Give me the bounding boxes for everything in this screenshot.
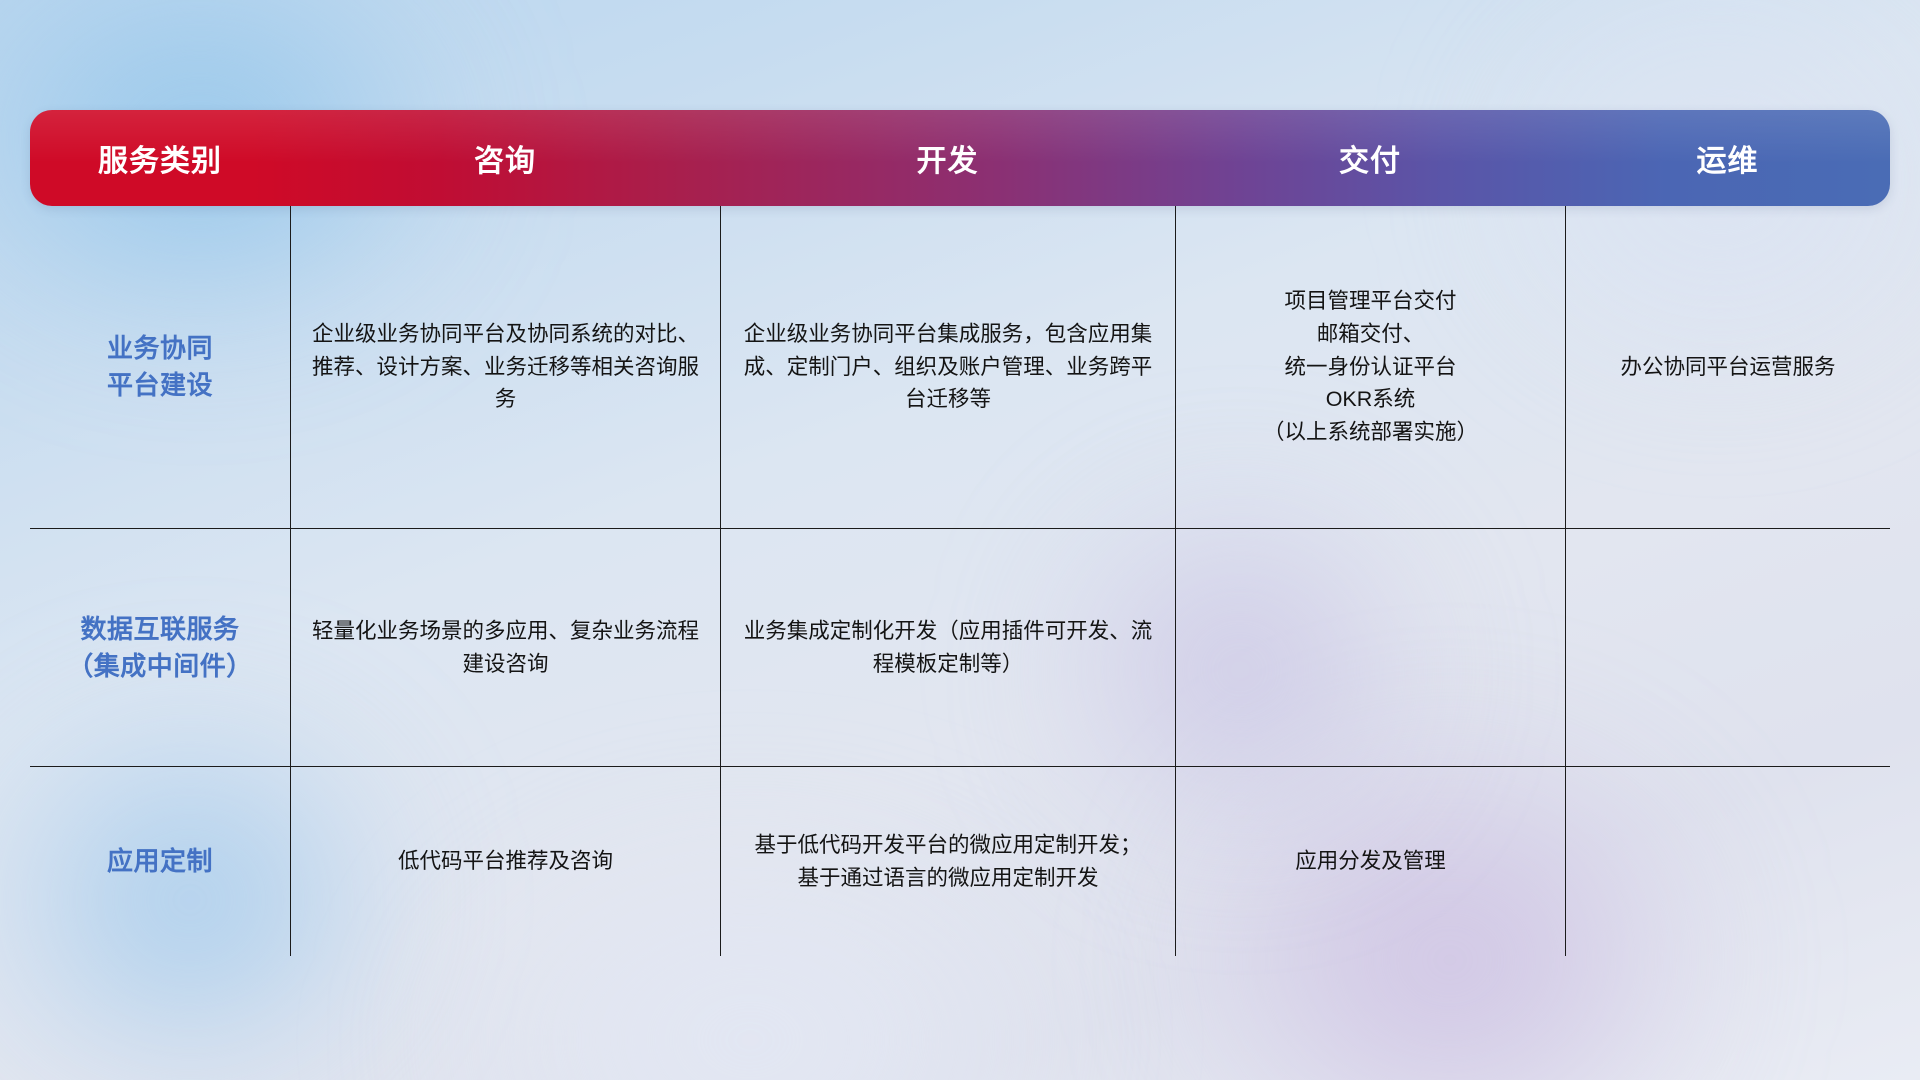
cell-text-line: OKR系统	[1263, 383, 1478, 416]
table-cell-development-r1: 企业级业务协同平台集成服务，包含应用集成、定制门户、组织及账户管理、业务跨平台迁…	[721, 206, 1175, 528]
table-column-delivery: 项目管理平台交付 邮箱交付、 统一身份认证平台 OKR系统 （以上系统部署实施）…	[1175, 206, 1565, 956]
table-cell-development-r2: 业务集成定制化开发（应用插件可开发、流程模板定制等）	[721, 528, 1175, 766]
table-cell-consulting-r2: 轻量化业务场景的多应用、复杂业务流程建设咨询	[291, 528, 720, 766]
table-column-development: 企业级业务协同平台集成服务，包含应用集成、定制门户、组织及账户管理、业务跨平台迁…	[720, 206, 1175, 956]
cell-text-multiline: 项目管理平台交付 邮箱交付、 统一身份认证平台 OKR系统 （以上系统部署实施）	[1263, 285, 1478, 448]
row-label-data-interconnect: 数据互联服务 （集成中间件）	[67, 611, 253, 685]
row-label-line: 业务协同	[107, 330, 213, 367]
table-header-row: 服务类别 咨询 开发 交付 运维	[30, 110, 1890, 206]
table-column-service-category: 业务协同 平台建设 数据互联服务 （集成中间件） 应用定制	[30, 206, 290, 956]
table-row: 应用定制	[30, 766, 290, 956]
cell-text-line: 基于低代码开发平台的微应用定制开发；	[754, 829, 1141, 862]
cell-text: 办公协同平台运营服务	[1620, 351, 1835, 384]
table-cell-consulting-r3: 低代码平台推荐及咨询	[291, 766, 720, 956]
cell-text-line: （以上系统部署实施）	[1263, 416, 1478, 449]
cell-text: 低代码平台推荐及咨询	[398, 845, 613, 878]
cell-text: 企业级业务协同平台集成服务，包含应用集成、定制门户、组织及账户管理、业务跨平台迁…	[735, 318, 1161, 416]
row-label-line: 数据互联服务	[67, 611, 253, 648]
table-header-service-category: 服务类别	[30, 136, 290, 180]
row-label-app-customization: 应用定制	[107, 843, 213, 880]
cell-text-line: 项目管理平台交付	[1263, 285, 1478, 318]
table-cell-consulting-r1: 企业级业务协同平台及协同系统的对比、推荐、设计方案、业务迁移等相关咨询服务	[291, 206, 720, 528]
table-cell-delivery-r2	[1176, 528, 1565, 766]
table-header-operations: 运维	[1565, 136, 1890, 180]
table-cell-delivery-r1: 项目管理平台交付 邮箱交付、 统一身份认证平台 OKR系统 （以上系统部署实施）	[1176, 206, 1565, 528]
table-row: 业务协同 平台建设	[30, 206, 290, 528]
table-body: 业务协同 平台建设 数据互联服务 （集成中间件） 应用定制 企业级业务协同平台及…	[30, 206, 1890, 956]
row-label-line: （集成中间件）	[67, 648, 253, 685]
row-label-business-collaboration: 业务协同 平台建设	[107, 330, 213, 404]
cell-text: 企业级业务协同平台及协同系统的对比、推荐、设计方案、业务迁移等相关咨询服务	[305, 318, 706, 416]
cell-text: 业务集成定制化开发（应用插件可开发、流程模板定制等）	[735, 615, 1161, 680]
cell-text: 应用分发及管理	[1295, 845, 1446, 878]
table-row: 数据互联服务 （集成中间件）	[30, 528, 290, 766]
table-header-delivery: 交付	[1175, 136, 1565, 180]
cell-text-line: 基于通过语言的微应用定制开发	[754, 862, 1141, 895]
table-cell-development-r3: 基于低代码开发平台的微应用定制开发； 基于通过语言的微应用定制开发	[721, 766, 1175, 956]
table-header-consulting: 咨询	[290, 136, 720, 180]
row-label-line: 应用定制	[107, 843, 213, 880]
table-cell-operations-r1: 办公协同平台运营服务	[1566, 206, 1890, 528]
table-column-operations: 办公协同平台运营服务	[1565, 206, 1890, 956]
cell-text-line: 邮箱交付、	[1263, 318, 1478, 351]
table-cell-operations-r3	[1566, 766, 1890, 956]
cell-text-multiline: 基于低代码开发平台的微应用定制开发； 基于通过语言的微应用定制开发	[754, 829, 1141, 894]
table-header-development: 开发	[720, 136, 1175, 180]
table-column-consulting: 企业级业务协同平台及协同系统的对比、推荐、设计方案、业务迁移等相关咨询服务 轻量…	[290, 206, 720, 956]
table-cell-delivery-r3: 应用分发及管理	[1176, 766, 1565, 956]
service-matrix-table: 服务类别 咨询 开发 交付 运维 业务协同 平台建设 数据互联服务 （集成中间件…	[30, 110, 1890, 956]
cell-text-line: 统一身份认证平台	[1263, 351, 1478, 384]
row-label-line: 平台建设	[107, 367, 213, 404]
cell-text: 轻量化业务场景的多应用、复杂业务流程建设咨询	[305, 615, 706, 680]
table-cell-operations-r2	[1566, 528, 1890, 766]
